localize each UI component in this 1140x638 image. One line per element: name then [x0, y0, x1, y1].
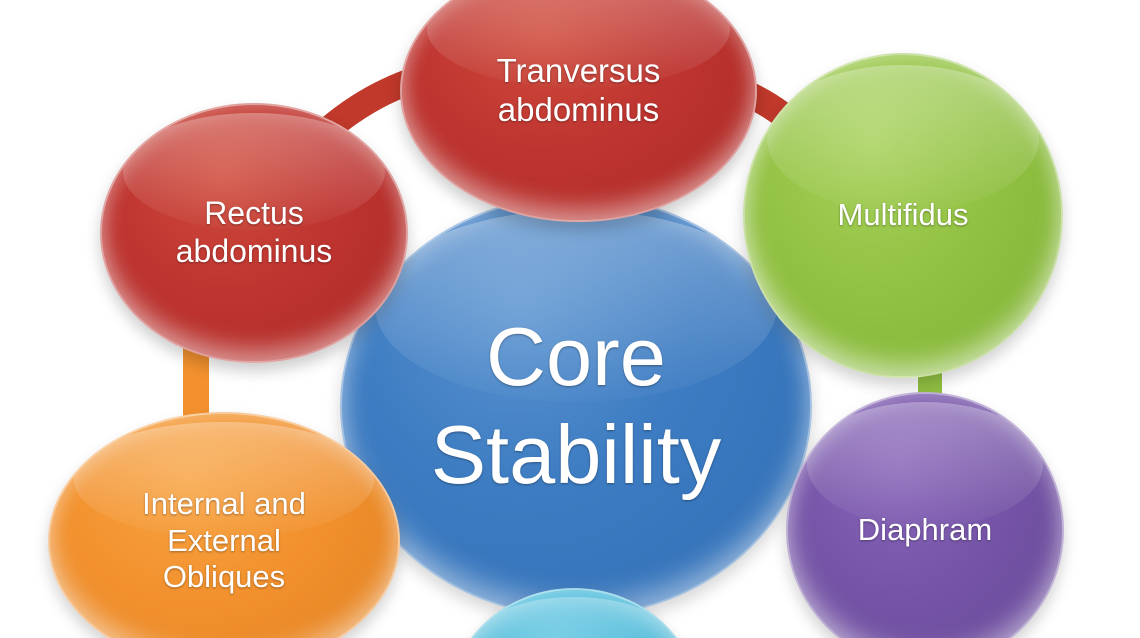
center-node-label: Core Stability — [423, 308, 730, 504]
node-rectus-abdominus-label: Rectus abdominus — [168, 195, 341, 271]
node-transversus-abdominus-label: Tranversus abdominus — [489, 52, 669, 130]
node-rectus-abdominus[interactable]: Rectus abdominus — [100, 103, 408, 363]
node-diaphram-label: Diaphram — [850, 512, 1000, 549]
node-internal-external-obliques-label: Internal and External Obliques — [134, 486, 314, 596]
diagram-canvas: Core Stability Tranversus abdominus Rect… — [0, 0, 1140, 638]
node-multifidus-label: Multifidus — [830, 197, 977, 234]
node-multifidus[interactable]: Multifidus — [743, 53, 1063, 378]
center-node-core-stability[interactable]: Core Stability — [340, 195, 812, 617]
